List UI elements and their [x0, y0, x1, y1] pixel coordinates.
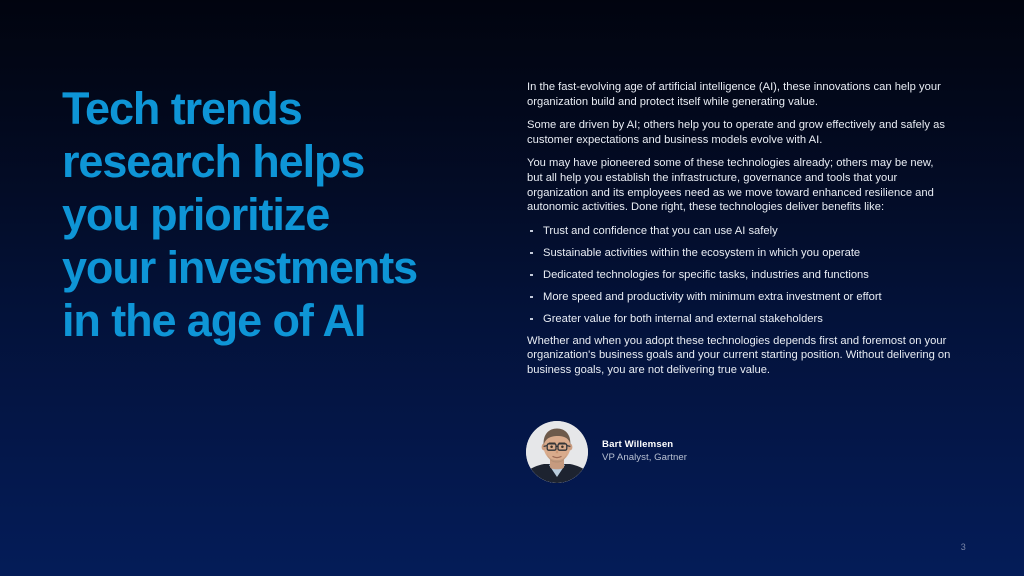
list-item: Greater value for both internal and exte… [527, 312, 951, 327]
bullet-point-icon [530, 252, 533, 255]
page-number: 3 [961, 542, 966, 552]
list-item: More speed and productivity with minimum… [527, 290, 951, 305]
body-content: In the fast-evolving age of artificial i… [527, 80, 951, 386]
closing-paragraph: Whether and when you adopt these technol… [527, 334, 951, 378]
list-item: Trust and confidence that you can use AI… [527, 224, 951, 239]
list-item-label: More speed and productivity with minimum… [543, 291, 882, 303]
list-item-label: Sustainable activities within the ecosys… [543, 247, 860, 259]
person-headshot-photo-icon [526, 421, 588, 483]
list-item-label: Trust and confidence that you can use AI… [543, 225, 778, 237]
avatar [526, 421, 588, 483]
author-attribution: Bart Willemsen VP Analyst, Gartner [526, 421, 687, 483]
list-item-label: Dedicated technologies for specific task… [543, 269, 869, 281]
intro-paragraph-2: Some are driven by AI; others help you t… [527, 118, 951, 147]
slide-container: Tech trends research helps you prioritiz… [0, 0, 1024, 576]
intro-paragraph-3: You may have pioneered some of these tec… [527, 156, 951, 214]
list-item: Sustainable activities within the ecosys… [527, 246, 951, 261]
page-title: Tech trends research helps you prioritiz… [62, 82, 512, 347]
benefits-list: Trust and confidence that you can use AI… [527, 224, 951, 327]
author-title: VP Analyst, Gartner [602, 451, 687, 464]
list-item-label: Greater value for both internal and exte… [543, 313, 823, 325]
author-name: Bart Willemsen [602, 438, 687, 451]
bullet-point-icon [530, 274, 533, 277]
bullet-point-icon [530, 296, 533, 299]
list-item: Dedicated technologies for specific task… [527, 268, 951, 283]
author-details: Bart Willemsen VP Analyst, Gartner [602, 438, 687, 466]
intro-paragraph-1: In the fast-evolving age of artificial i… [527, 80, 951, 109]
bullet-point-icon [530, 230, 533, 233]
bullet-point-icon [530, 318, 533, 321]
